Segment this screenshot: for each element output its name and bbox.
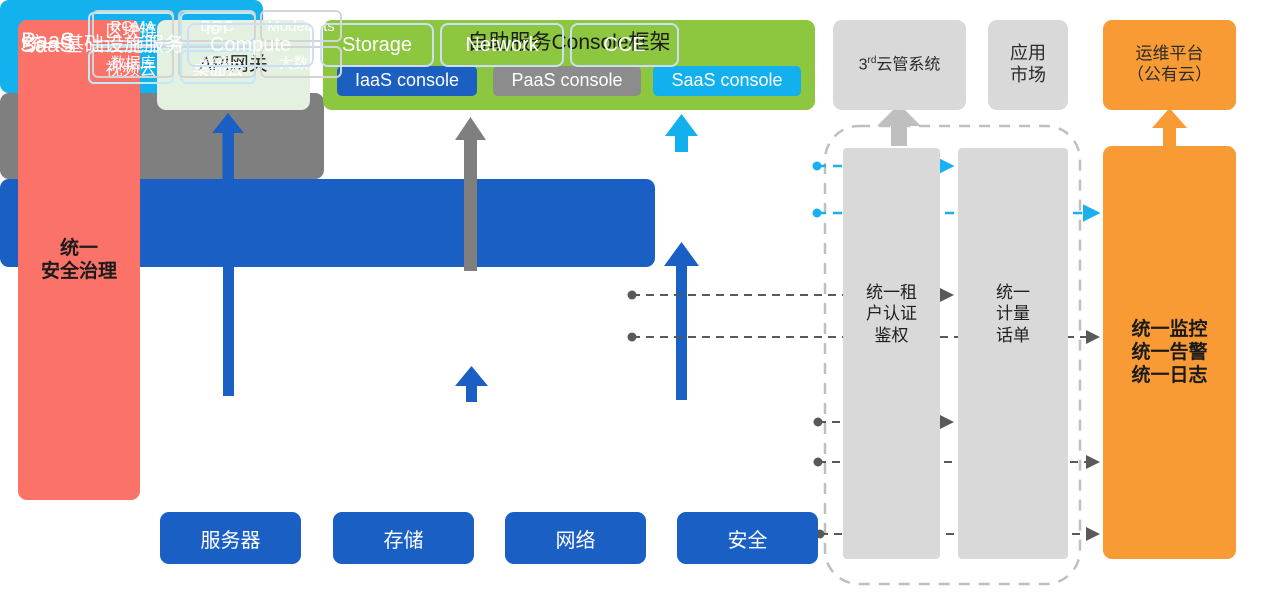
unified-tenant-auth-column[interactable] (843, 148, 940, 559)
console-chip-paas[interactable]: PaaS console (493, 66, 641, 96)
iaas-chip-compute[interactable]: Compute (187, 23, 314, 67)
unified-metering-billing-column[interactable] (958, 148, 1068, 559)
arrow-to-third-cloud (877, 104, 921, 146)
auth-line-2: 户认证 (843, 303, 940, 324)
auth-line-1: 统一租 (843, 282, 940, 303)
arrow-iaas-to-saas (664, 242, 699, 400)
security-line-1: 统一 (41, 237, 117, 260)
console-chip-iaas[interactable]: IaaS console (337, 66, 477, 96)
hardware-box-storage[interactable]: 存储 (333, 512, 474, 564)
hardware-box-server[interactable]: 服务器 (160, 512, 301, 564)
hardware-box-security[interactable]: 安全 (677, 512, 818, 564)
unified-tenant-auth-label: 统一租 户认证 鉴权 (843, 282, 940, 346)
security-governance-panel[interactable]: 统一 安全治理 (18, 20, 140, 500)
third-party-cloud-mgmt-box[interactable]: 3rd云管系统 (833, 20, 966, 110)
arrow-iaas-to-paas (455, 366, 488, 402)
ops-platform-public-cloud-box[interactable]: 运维平台 （公有云） (1103, 20, 1236, 110)
arrow-to-ops-top (1152, 108, 1187, 146)
ops-top-line-1: 运维平台 (1127, 44, 1212, 65)
billing-line-1: 统一 (958, 282, 1068, 303)
architecture-diagram: 统一 安全治理 API网关 自助服务Console框架 IaaS console… (0, 0, 1265, 605)
console-chip-saas[interactable]: SaaS console (653, 66, 801, 96)
ops-monitoring-column[interactable]: 统一监控 统一告警 统一日志 (1103, 146, 1236, 559)
unified-metering-billing-label: 统一 计量 话单 (958, 282, 1068, 346)
iaas-chip-cce[interactable]: CCE (570, 23, 679, 67)
auth-line-3: 鉴权 (843, 325, 940, 346)
iaas-chip-network[interactable]: Network (440, 23, 564, 67)
billing-line-3: 话单 (958, 325, 1068, 346)
iaas-bar-label: 统一基础设施服务 (14, 28, 194, 57)
security-line-2: 安全治理 (41, 260, 117, 283)
arrow-saas-to-console (665, 114, 698, 152)
iaas-chip-storage[interactable]: Storage (320, 23, 434, 67)
app-market-line-2: 市场 (1010, 65, 1046, 87)
ops-top-line-2: （公有云） (1127, 65, 1212, 86)
third-cloud-label: 3rd云管系统 (859, 55, 941, 75)
app-market-box[interactable]: 应用 市场 (988, 20, 1068, 110)
hardware-box-network[interactable]: 网络 (505, 512, 646, 564)
ops-col-line-2: 统一告警 (1131, 341, 1207, 364)
ops-col-line-3: 统一日志 (1131, 364, 1207, 387)
ops-col-line-1: 统一监控 (1131, 318, 1207, 341)
billing-line-2: 计量 (958, 303, 1068, 324)
app-market-line-1: 应用 (1010, 43, 1046, 65)
